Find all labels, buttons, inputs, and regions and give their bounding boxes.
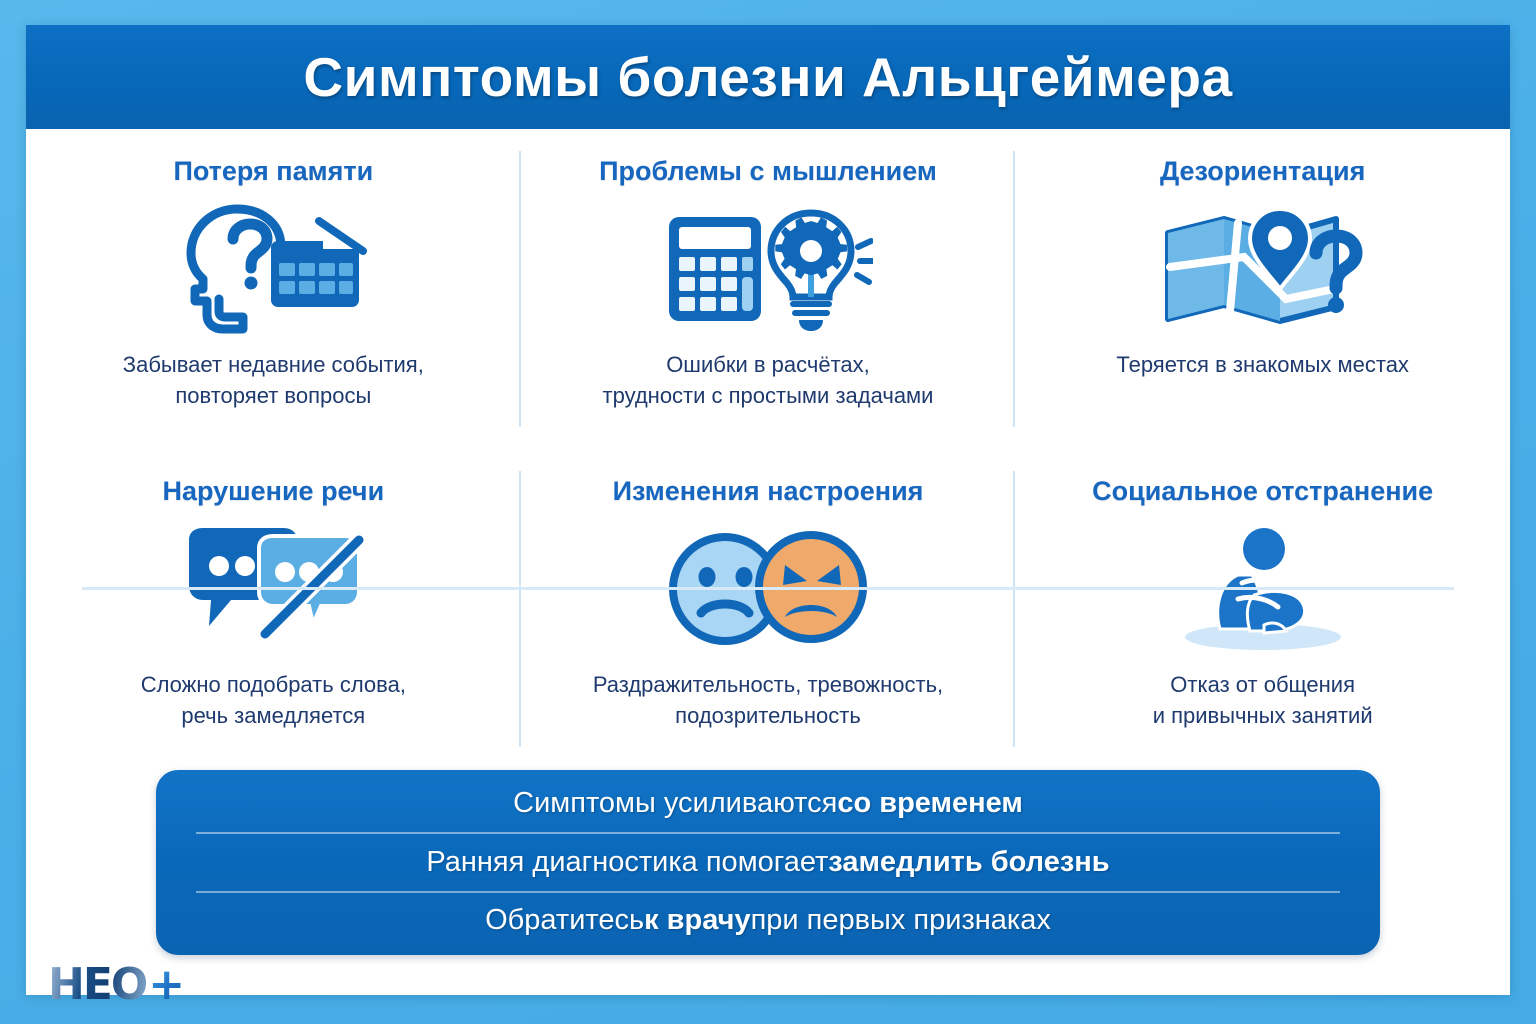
symptom-card-description: Теряется в знакомых местах <box>1116 349 1409 380</box>
symptom-card-title: Дезориентация <box>1160 157 1365 187</box>
desc-line: речь замедляется <box>141 700 406 731</box>
symptom-card-title: Социальное отстранение <box>1092 477 1433 507</box>
desc-line: Сложно подобрать слова, <box>141 669 406 700</box>
calculator-lightbulb-gear-icon <box>663 199 873 339</box>
desc-line: повторяет вопросы <box>123 380 424 411</box>
page-title: Симптомы болезни Альцгеймера <box>303 50 1232 105</box>
banner-text-bold: со временем <box>837 788 1022 820</box>
desc-line: Ошибки в расчётах, <box>603 349 934 380</box>
key-messages-banner: Симптомы усиливаются со временем Ранняя … <box>156 770 1380 955</box>
banner-line-early-diagnosis: Ранняя диагностика помогает замедлить бо… <box>196 832 1340 890</box>
banner-text-bold: к врачу <box>644 905 750 937</box>
banner-line-see-doctor: Обратитесь к врачу при первых признаках <box>196 891 1340 949</box>
brand-logo: НЕО + <box>48 963 183 1007</box>
symptom-card-title: Нарушение речи <box>162 477 384 507</box>
banner-text-plain: Обратитесь <box>485 905 644 937</box>
symptom-card-description: Забывает недавние события, повторяет воп… <box>123 349 424 411</box>
banner-line-progression: Симптомы усиливаются со временем <box>196 776 1340 832</box>
map-pin-question-icon <box>1158 199 1368 339</box>
banner-text-plain: Ранняя диагностика помогает <box>426 847 828 879</box>
content-panel: Симптомы болезни Альцгеймера Потеря памя… <box>26 25 1510 995</box>
symptom-card-speech-impairment: Нарушение речи <box>26 449 521 769</box>
symptom-card-description: Раздражительность, тревожность, подозрит… <box>593 669 943 731</box>
symptom-card-description: Отказ от общения и привычных занятий <box>1153 669 1373 731</box>
desc-line: Раздражительность, тревожность, <box>593 669 943 700</box>
symptom-card-title: Потеря памяти <box>173 157 373 187</box>
desc-line: трудности с простыми задачами <box>603 380 934 411</box>
symptom-card-title: Изменения настроения <box>613 477 924 507</box>
header-bar: Симптомы болезни Альцгеймера <box>26 25 1510 129</box>
desc-line: Теряется в знакомых местах <box>1116 349 1409 380</box>
symptom-card-thinking-problems: Проблемы с мышлением <box>521 129 1016 449</box>
symptom-card-disorientation: Дезориентация <box>1015 129 1510 449</box>
symptom-card-description: Сложно подобрать слова, речь замедляется <box>141 669 406 731</box>
banner-text-plain: Симптомы усиливаются <box>513 788 837 820</box>
symptom-card-social-withdrawal: Социальное отстранение <box>1015 449 1510 769</box>
logo-plus-icon: + <box>148 963 183 1007</box>
banner-text-bold: замедлить болезнь <box>828 847 1109 879</box>
desc-line: подозрительность <box>593 700 943 731</box>
symptom-card-description: Ошибки в расчётах, трудности с простыми … <box>603 349 934 411</box>
symptom-grid: Потеря памяти <box>26 129 1510 769</box>
desc-line: и привычных занятий <box>1153 700 1373 731</box>
symptom-card-mood-changes: Изменения настроения <box>521 449 1016 769</box>
head-question-calendar-icon <box>173 199 373 339</box>
desc-line: Отказ от общения <box>1153 669 1373 700</box>
symptom-card-title: Проблемы с мышлением <box>599 157 937 187</box>
poster-root: Симптомы болезни Альцгеймера Потеря памя… <box>0 0 1536 1024</box>
desc-line: Забывает недавние события, <box>123 349 424 380</box>
row-divider <box>82 587 1454 590</box>
symptom-card-memory-loss: Потеря памяти <box>26 129 521 449</box>
logo-wordmark: НЕО <box>48 963 146 1007</box>
banner-text-plain-tail: при первых признаках <box>751 905 1051 937</box>
